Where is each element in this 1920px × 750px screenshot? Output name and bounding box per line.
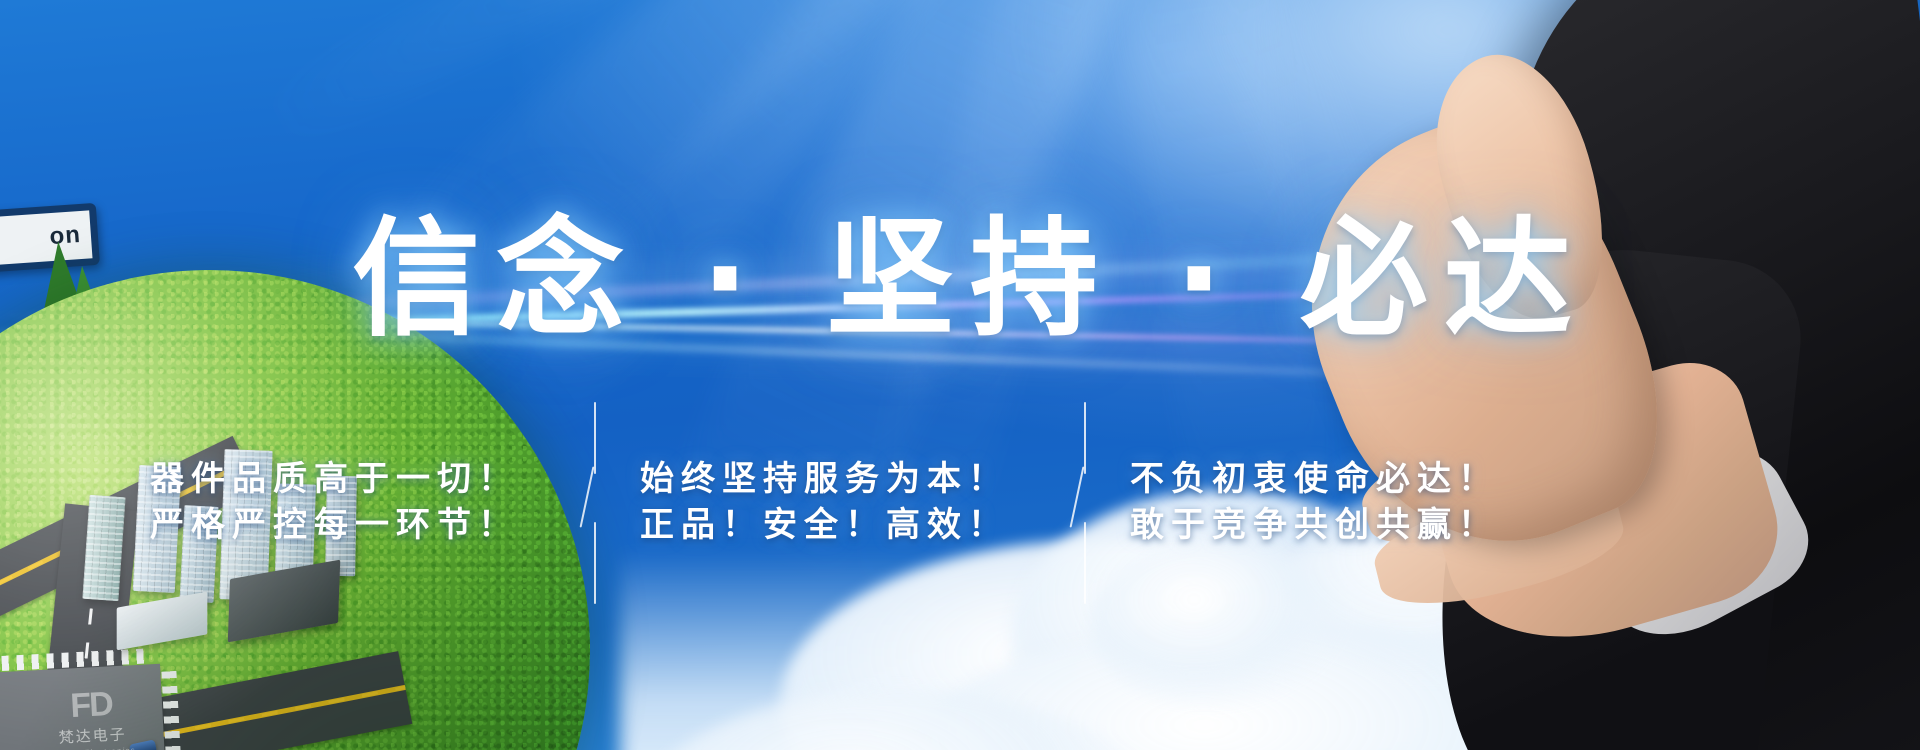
promo-banner: on bbox=[0, 0, 1920, 750]
light-ray bbox=[1076, 0, 1399, 750]
logo-name-cn: 梵达电子 bbox=[12, 721, 173, 750]
building bbox=[82, 495, 125, 601]
slogan-column-2: 始终坚持服务为本！ 正品！安全！高效！ bbox=[640, 460, 1040, 544]
building-block bbox=[117, 592, 208, 651]
slogan-column-1: 器件品质高于一切！ 严格严控每一环节！ bbox=[150, 460, 550, 544]
light-ray bbox=[537, 0, 1256, 750]
divider-slash bbox=[580, 466, 595, 527]
slogan-row: 器件品质高于一切！ 严格严控每一环节！ 始终坚持服务为本！ 正品！安全！高效！ … bbox=[150, 460, 1570, 590]
crosswalk bbox=[0, 680, 1, 750]
light-ray bbox=[1078, 0, 1630, 750]
logo-monogram: FD bbox=[10, 684, 172, 726]
slogan-line: 严格严控每一环节！ bbox=[150, 506, 550, 544]
road bbox=[19, 503, 139, 750]
page-title: 信念 · 坚持 · 必达 bbox=[0, 216, 1920, 344]
divider-line-top bbox=[1084, 402, 1086, 474]
company-logo-watermark: FD 梵达电子 Fanda Electronics bbox=[10, 684, 173, 750]
slogan-line: 正品！安全！高效！ bbox=[640, 506, 1040, 544]
slogan-line: 不负初衷使命必达！ bbox=[1130, 460, 1530, 498]
car bbox=[129, 739, 157, 750]
road-intersection bbox=[0, 664, 168, 750]
road-center-line bbox=[0, 685, 406, 750]
slogan-column-3: 不负初衷使命必达！ 敢于竞争共创共赢！ bbox=[1130, 460, 1530, 544]
handshake-figure bbox=[1280, 0, 1920, 750]
slogan-line: 敢于竞争共创共赢！ bbox=[1130, 506, 1530, 544]
crosswalk bbox=[161, 671, 183, 750]
divider-line-bottom bbox=[594, 522, 596, 604]
cloud bbox=[900, 620, 1660, 750]
slogan-divider bbox=[1040, 402, 1130, 602]
divider-line-top bbox=[594, 402, 596, 474]
divider-line-bottom bbox=[1084, 522, 1086, 604]
shirt-cuff bbox=[1569, 429, 1825, 660]
slogan-divider bbox=[550, 402, 640, 602]
cloud bbox=[640, 690, 1160, 750]
road bbox=[0, 651, 412, 750]
divider-slash bbox=[1070, 466, 1085, 527]
light-ray bbox=[774, 0, 1183, 750]
slogan-line: 器件品质高于一切！ bbox=[150, 460, 550, 498]
suit-sleeve bbox=[1480, 0, 1920, 750]
logo-name-en: Fanda Electronics bbox=[13, 744, 173, 750]
crosswalk bbox=[1, 648, 152, 671]
slogan-line: 始终坚持服务为本！ bbox=[640, 460, 1040, 498]
